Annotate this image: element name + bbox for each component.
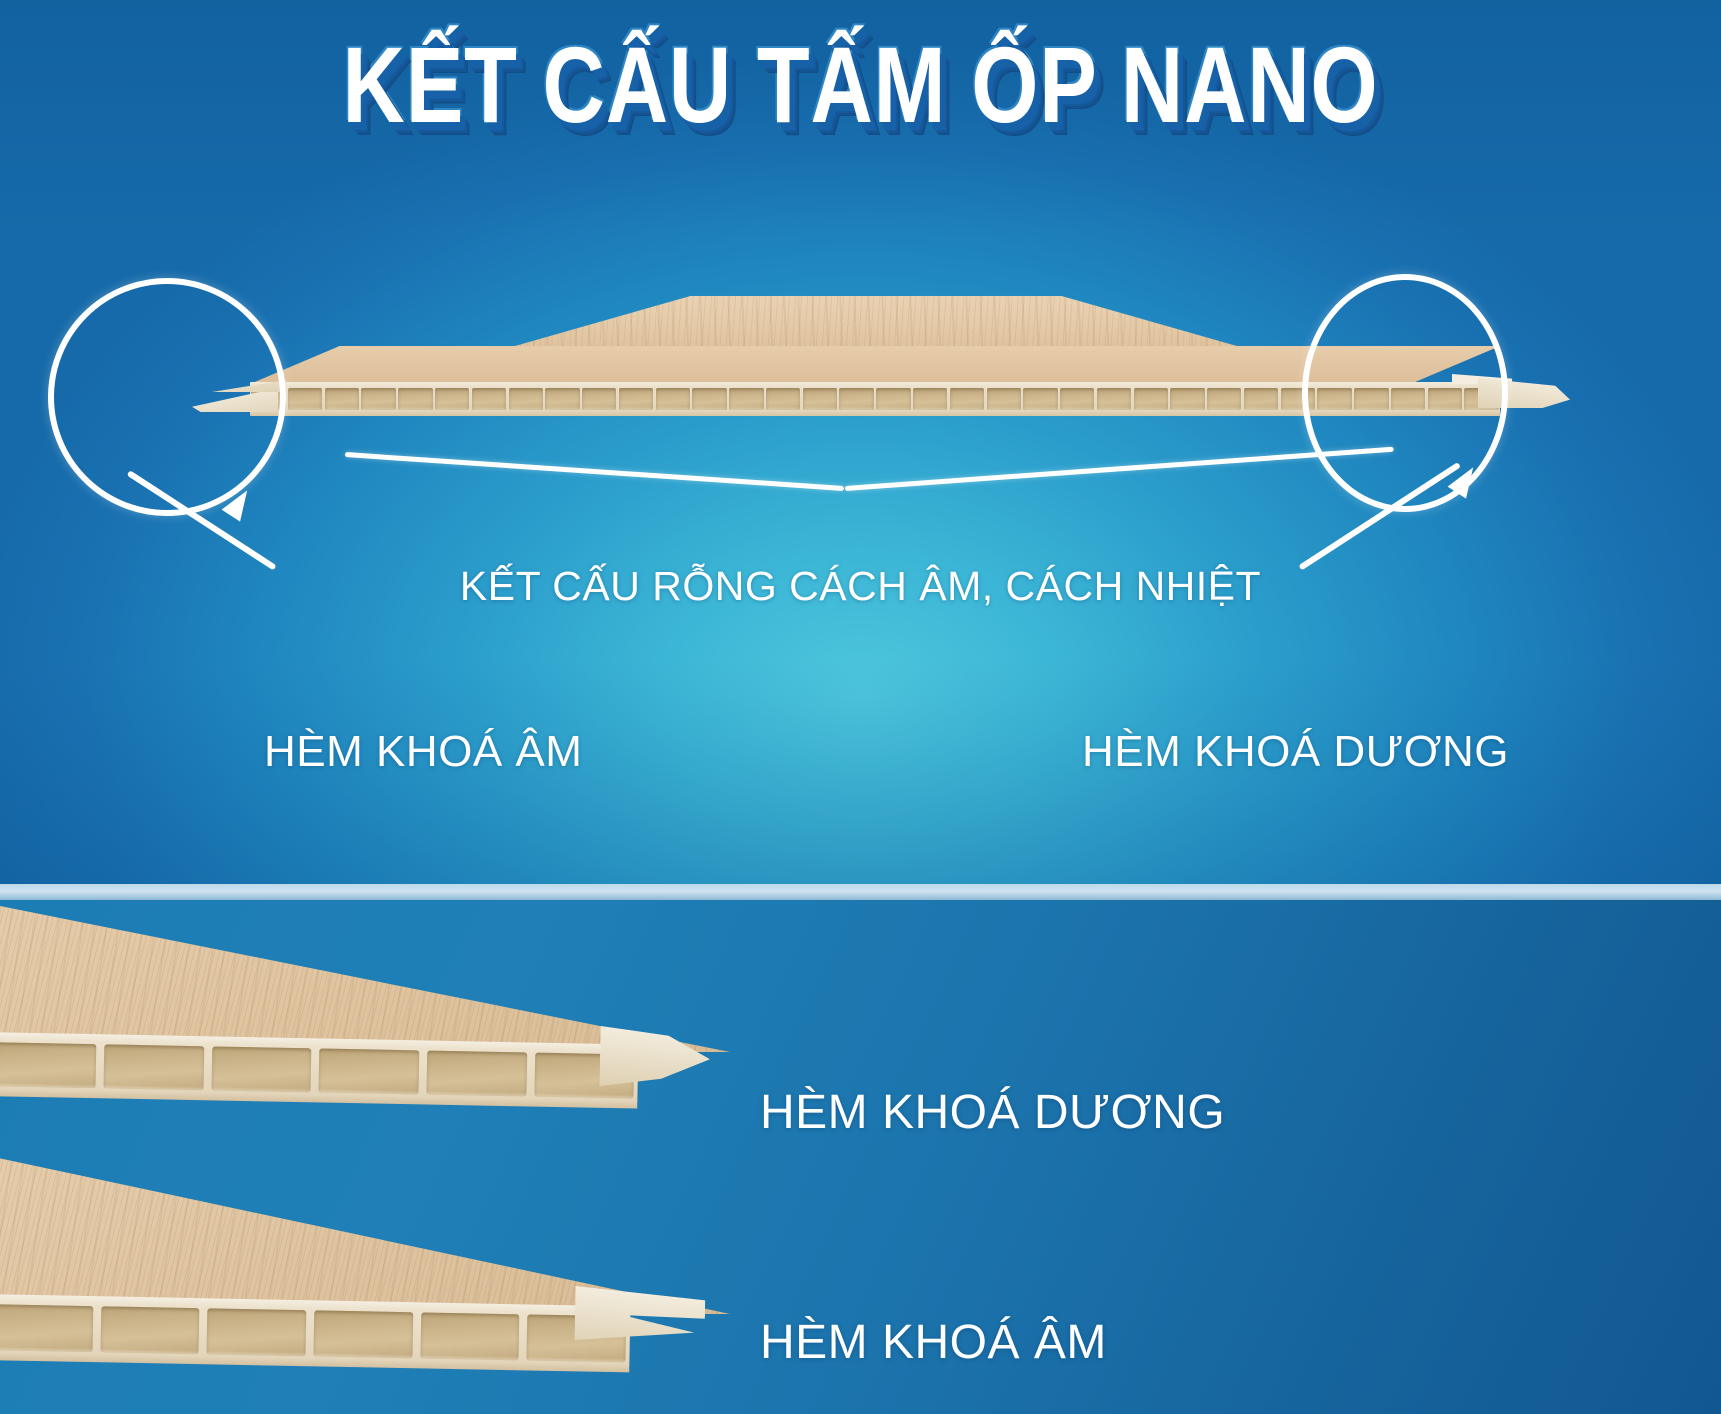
core-cell [766,388,800,410]
core-cell [313,1310,413,1358]
highlight-circle-left-groove [48,278,286,516]
core-cell [987,388,1021,410]
panel-wood-face-left [250,346,890,384]
groove-edge-profile [574,1286,705,1342]
core-cell [288,388,322,410]
core-cell [472,388,506,410]
core-cell [0,1042,97,1089]
core-cell [803,388,837,410]
core-cell [950,388,984,410]
infographic-page: KẾT CẤU TẤM ỐP NANO KẾT CẤU RỖNG CÁCH ÂM… [0,0,1721,1414]
core-cell [361,388,395,410]
core-cell [913,388,947,410]
core-cell [876,388,910,410]
panel-tongue-edge-photo [0,898,730,1110]
core-cell [545,388,579,410]
panel-wood-face [0,1088,730,1314]
core-cell [207,1308,307,1356]
core-cell [325,388,359,410]
core-cell [0,1304,93,1352]
label-hem-khoa-duong-top: HÈM KHOÁ DƯƠNG [1082,727,1509,777]
page-title: KẾT CẤU TẤM ỐP NANO [342,30,1378,140]
section-divider [0,884,1721,900]
top-diagram-section: KẾT CẤU TẤM ỐP NANO KẾT CẤU RỖNG CÁCH ÂM… [0,0,1721,890]
label-hem-khoa-am-top: HÈM KHOÁ ÂM [264,727,582,777]
core-cell [104,1044,204,1091]
core-cell [582,388,616,410]
label-hem-khoa-duong-bottom: HÈM KHOÁ DƯƠNG [760,1085,1225,1140]
core-cell [435,388,469,410]
core-cell [1097,388,1131,410]
core-cell [211,1046,311,1093]
label-hem-khoa-am-bottom: HÈM KHOÁ ÂM [760,1315,1107,1370]
center-caption: KẾT CẤU RỖNG CÁCH ÂM, CÁCH NHIỆT [0,563,1721,610]
core-cell [1060,388,1094,410]
core-cell [1170,388,1204,410]
core-cell [692,388,726,410]
core-cell [398,388,432,410]
core-cell [656,388,690,410]
core-cell [619,388,653,410]
core-cell [729,388,763,410]
core-cell [100,1306,200,1354]
core-cell [420,1312,520,1360]
title-block: KẾT CẤU TẤM ỐP NANO [0,30,1721,140]
core-cell [839,388,873,410]
panel-groove-edge-photo [0,1088,730,1414]
core-cell [509,388,543,410]
core-cell [1023,388,1057,410]
tongue-edge-profile [599,1026,710,1088]
core-cell [1244,388,1278,410]
core-cell [1134,388,1168,410]
core-cell [1207,388,1241,410]
